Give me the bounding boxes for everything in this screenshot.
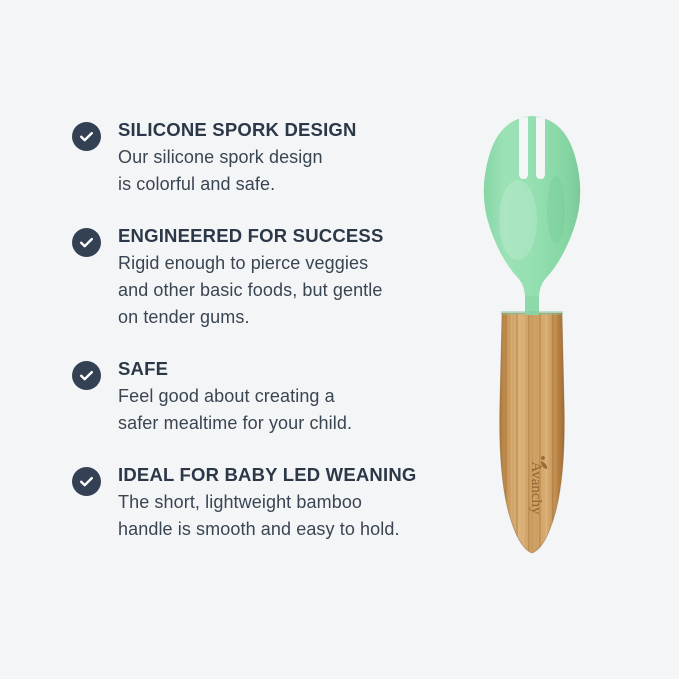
leaf-dot-icon [541, 456, 545, 460]
brand-name: Avanchy [528, 461, 544, 515]
feature-description-line: handle is smooth and easy to hold. [118, 516, 472, 543]
bamboo-handle [500, 310, 565, 560]
feature-description: Rigid enough to pierce veggies and other… [118, 250, 472, 331]
check-circle-icon [72, 361, 101, 390]
feature-item: ENGINEERED FOR SUCCESS Rigid enough to p… [72, 224, 472, 331]
check-circle-icon [72, 228, 101, 257]
feature-list: SILICONE SPORK DESIGN Our silicone spork… [72, 118, 472, 543]
feature-description-line: Feel good about creating a [118, 383, 472, 410]
feature-title: SILICONE SPORK DESIGN [118, 118, 472, 142]
feature-description-line: and other basic foods, but gentle [118, 277, 472, 304]
brand-engraving: Avanchy [528, 456, 547, 515]
feature-title: IDEAL FOR BABY LED WEANING [118, 463, 472, 487]
product-image: Avanchy [470, 100, 630, 580]
shadow [547, 176, 565, 244]
feature-description: The short, lightweight bamboo handle is … [118, 489, 472, 543]
feature-description-line: safer mealtime for your child. [118, 410, 472, 437]
feature-title: ENGINEERED FOR SUCCESS [118, 224, 472, 248]
feature-description-line: The short, lightweight bamboo [118, 489, 472, 516]
feature-item: SAFE Feel good about creating a safer me… [72, 357, 472, 437]
feature-description-line: on tender gums. [118, 304, 472, 331]
feature-item: IDEAL FOR BABY LED WEANING The short, li… [72, 463, 472, 543]
feature-title: SAFE [118, 357, 472, 381]
spork-head [484, 116, 581, 315]
feature-description-line: Rigid enough to pierce veggies [118, 250, 472, 277]
check-circle-icon [72, 467, 101, 496]
check-circle-icon [72, 122, 101, 151]
feature-item: SILICONE SPORK DESIGN Our silicone spork… [72, 118, 472, 198]
highlight [499, 180, 537, 260]
silicone-collar [501, 296, 563, 315]
feature-description-line: is colorful and safe. [118, 171, 472, 198]
feature-description: Our silicone spork design is colorful an… [118, 144, 472, 198]
feature-description: Feel good about creating a safer mealtim… [118, 383, 472, 437]
feature-description-line: Our silicone spork design [118, 144, 472, 171]
product-infographic: SILICONE SPORK DESIGN Our silicone spork… [0, 0, 679, 679]
